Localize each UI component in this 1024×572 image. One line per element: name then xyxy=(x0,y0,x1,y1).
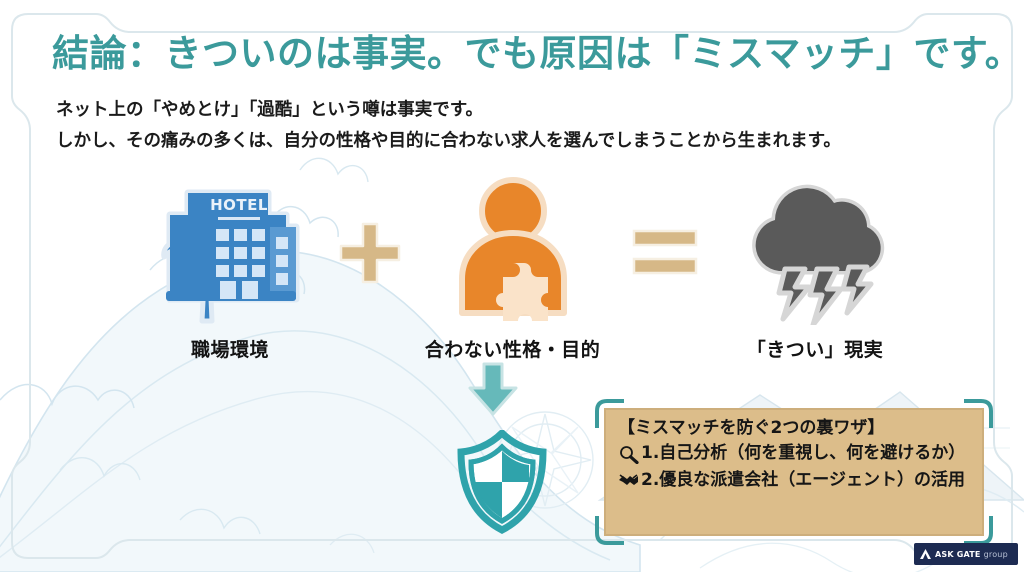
down-arrow-icon xyxy=(462,360,524,420)
equation-item-label: 「きつい」現実 xyxy=(715,335,915,362)
plus-sign xyxy=(337,220,403,290)
equation-item-mismatch: 合わない性格・目的 xyxy=(405,175,620,362)
callout-item-2: 2.優良な派遣会社（エージェント）の活用 xyxy=(618,469,984,492)
callout-item-text: 1.自己分析（何を重視し、何を避けるか） xyxy=(641,442,965,465)
logo-brand: ASK GATE xyxy=(935,550,981,559)
handshake-icon xyxy=(618,471,639,490)
slide-canvas: 結論：きついのは事実。でも原因は「ミスマッチ」です。 ネット上の「やめとけ」「過… xyxy=(0,0,1024,572)
svg-text:HOTEL: HOTEL xyxy=(210,196,268,214)
lead-paragraph: ネット上の「やめとけ」「過酷」という噂は事実です。 しかし、その痛みの多くは、自… xyxy=(56,95,841,156)
equation-item-label: 職場環境 xyxy=(140,335,320,362)
logo-text: ASK GATE group xyxy=(935,550,1008,559)
page-title: 結論：きついのは事実。でも原因は「ミスマッチ」です。 xyxy=(52,33,1022,76)
lead-line-1: ネット上の「やめとけ」「過酷」という噂は事実です。 xyxy=(56,95,841,126)
callout-item-text: 2.優良な派遣会社（エージェント）の活用 xyxy=(641,469,965,492)
callout-item-1: 1.自己分析（何を重視し、何を避けるか） xyxy=(618,442,984,465)
equation-item-reality: 「きつい」現実 xyxy=(715,175,915,362)
callout-heading: 【ミスマッチを防ぐ2つの裏ワザ】 xyxy=(618,417,984,439)
lead-line-2: しかし、その痛みの多くは、自分の性格や目的に合わない求人を選んでしまうことから生… xyxy=(56,126,841,157)
storm-cloud-icon xyxy=(715,175,915,329)
ask-gate-group-logo: ASK GATE group xyxy=(914,543,1018,565)
magnifier-icon xyxy=(618,445,639,464)
hotel-building-icon: HOTEL xyxy=(140,175,320,329)
equation-item-workplace: HOTEL xyxy=(140,175,320,362)
person-puzzle-icon xyxy=(405,175,620,329)
logo-suffix: group xyxy=(984,550,1008,559)
equation-row: HOTEL xyxy=(0,175,1024,355)
shield-check-icon xyxy=(455,430,550,538)
tips-callout: 【ミスマッチを防ぐ2つの裏ワザ】 1.自己分析（何を重視し、何を避けるか） xyxy=(604,408,984,536)
equation-item-label: 合わない性格・目的 xyxy=(405,335,620,362)
equals-sign xyxy=(630,225,702,285)
triangle-mountain-mark xyxy=(919,548,932,560)
callout-content: 【ミスマッチを防ぐ2つの裏ワザ】 1.自己分析（何を重視し、何を避けるか） xyxy=(604,408,984,536)
